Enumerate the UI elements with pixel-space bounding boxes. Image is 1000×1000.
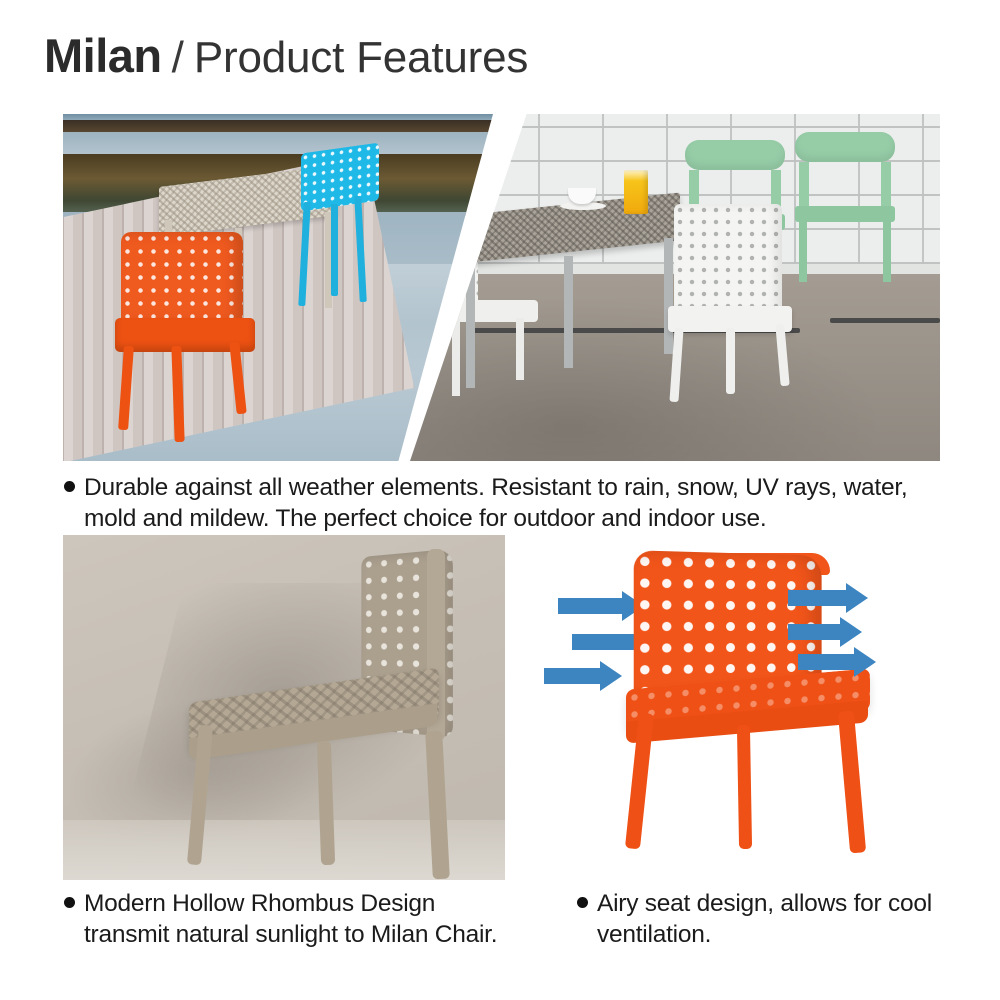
chair-leg: [883, 218, 891, 282]
taupe-chair: [179, 545, 479, 875]
pool-railing: [830, 318, 940, 323]
photo-poolside-patio-scene: [410, 114, 940, 461]
chair-leg: [354, 196, 367, 302]
chair-leg: [452, 318, 460, 396]
photo-taupe-chair-studio-shot: [63, 535, 505, 880]
chair-leg: [737, 725, 752, 849]
table-leg: [564, 256, 573, 368]
bullet-dot-icon: [577, 897, 588, 908]
chair-back: [301, 143, 379, 212]
feature-bullet-airy: Airy seat design, allows for cool ventil…: [577, 888, 977, 951]
bullet-dot-icon: [64, 481, 75, 492]
grey-rattan-table: [460, 204, 680, 394]
top-photo-band: [63, 114, 940, 461]
feature-text-design: Modern Hollow Rhombus Design transmit na…: [84, 888, 504, 951]
page-title-brand: Milan: [44, 28, 162, 83]
feature-bullet-design: Modern Hollow Rhombus Design transmit na…: [64, 888, 504, 951]
chair-leg: [118, 346, 134, 430]
feature-text-weather: Durable against all weather elements. Re…: [84, 472, 964, 535]
feature-text-airy: Airy seat design, allows for cool ventil…: [597, 888, 977, 951]
orange-chair: [115, 232, 257, 432]
chair-back: [674, 204, 782, 314]
page-title-separator: /: [172, 33, 184, 83]
chair-leg: [229, 342, 246, 415]
chair-back: [121, 232, 243, 324]
chair-leg: [775, 324, 789, 387]
photo-airflow-diagram-orange-chair: [540, 535, 980, 880]
green-stacked-chair: [795, 132, 899, 282]
chair-leg: [726, 328, 735, 394]
page-title-subtitle: Product Features: [194, 33, 528, 83]
chair-leg: [171, 346, 184, 442]
chair-leg: [799, 218, 807, 282]
chair-leg: [317, 741, 335, 865]
cyan-chair: [295, 148, 381, 312]
chair-back: [795, 132, 895, 162]
product-features-page: Milan / Product Features: [0, 0, 1000, 1000]
bullet-dot-icon: [64, 897, 75, 908]
chair-leg: [838, 711, 866, 854]
chair-leg: [331, 204, 338, 296]
feature-bullet-weather: Durable against all weather elements. Re…: [64, 472, 964, 535]
chair-leg: [669, 328, 683, 402]
chair-leg: [425, 731, 450, 880]
white-chair: [668, 204, 794, 404]
chair-leg: [298, 202, 310, 306]
chair-back: [685, 140, 785, 170]
chair-seat: [795, 206, 895, 222]
table-leg: [466, 248, 475, 388]
juice-glass: [624, 170, 648, 214]
chair-back-frame: [799, 162, 891, 210]
page-title: Milan / Product Features: [44, 28, 528, 83]
